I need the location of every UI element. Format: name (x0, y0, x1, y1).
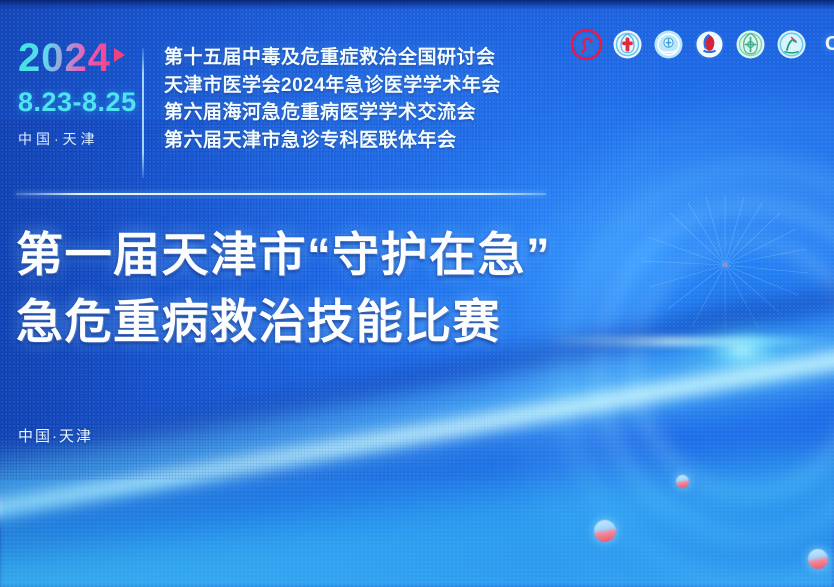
conference-line: 第六届天津市急诊专科医联体年会 (164, 129, 501, 153)
year-label: 2024 (18, 38, 111, 78)
organizer-logo-row: COM (570, 28, 834, 61)
logo-green-cross (734, 28, 767, 61)
triangle-right-icon (114, 48, 125, 62)
conference-line: 第十五届中毒及危重症救治全国研讨会 (164, 46, 501, 70)
conference-line: 第六届海河急危重病医学学术交流会 (164, 101, 501, 125)
footer-location-label: 中国·天津 (18, 425, 93, 446)
decorative-sphere (594, 520, 616, 542)
header-location-label: 中国·天津 (18, 132, 142, 146)
date-block: 2024 8.23-8.25 中国·天津 (18, 38, 142, 146)
conference-line: 天津市医学会2024年急诊医学学术年会 (164, 74, 501, 98)
year-row: 2024 (18, 38, 142, 78)
logo-red-blue-shield (693, 28, 726, 61)
header-vertical-divider (142, 48, 144, 178)
title-line-2: 急危重病救治技能比赛 (16, 289, 616, 356)
decorative-sphere (676, 475, 689, 488)
logo-red-caduceus (570, 28, 603, 61)
poster-screenshot: 2024 8.23-8.25 中国·天津 第十五届中毒及危重症救治全国研讨会 天… (0, 0, 834, 587)
decorative-sphere (808, 549, 828, 569)
top-dark-band (0, 0, 834, 10)
brand-text: COM (825, 33, 834, 56)
logo-emergency-society (652, 28, 685, 61)
page-title: 第一届天津市“守护在急” 急危重病救治技能比赛 (16, 222, 616, 355)
header-horizontal-divider (16, 193, 546, 195)
logo-medical-association (611, 28, 644, 61)
title-line-1: 第一届天津市“守护在急” (16, 222, 616, 289)
conference-title-list: 第十五届中毒及危重症救治全国研讨会 天津市医学会2024年急诊医学学术年会 第六… (164, 46, 501, 152)
poster-header: 2024 8.23-8.25 中国·天津 第十五届中毒及危重症救治全国研讨会 天… (18, 38, 558, 178)
date-range-label: 8.23-8.25 (18, 89, 142, 116)
logo-teal-emblem (775, 28, 808, 61)
